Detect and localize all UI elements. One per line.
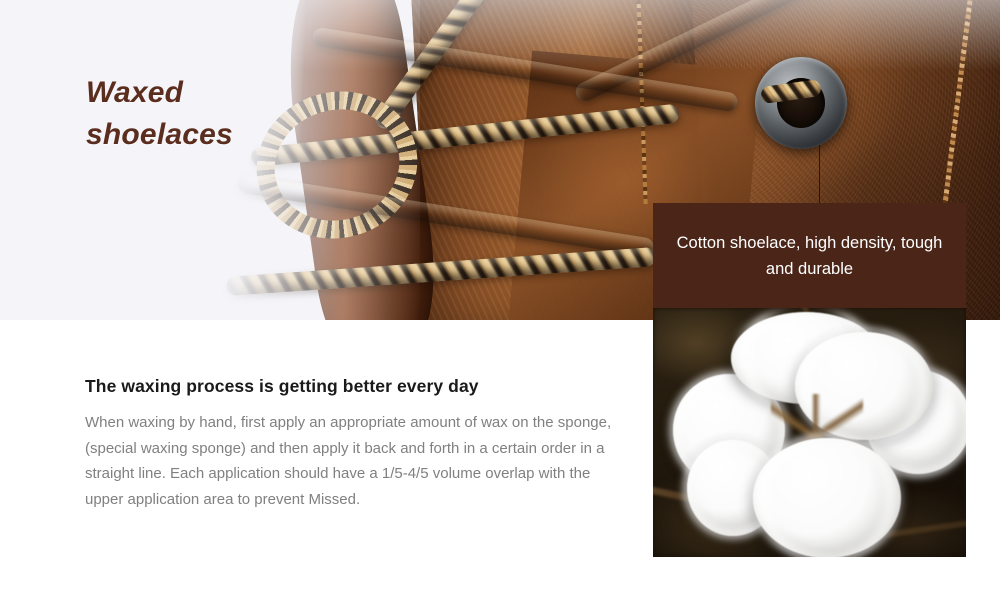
cotton-boll-image	[653, 308, 966, 557]
product-detail-page: Waxed shoelaces Cotton shoelace, high de…	[0, 0, 1000, 595]
content-heading: The waxing process is getting better eve…	[85, 376, 625, 397]
metal-eyelet	[755, 57, 847, 149]
callout-leader-line	[819, 145, 820, 205]
content-body-paragraph: When waxing by hand, first apply an appr…	[85, 410, 615, 512]
hero-left-fade	[0, 0, 420, 320]
hero-title-line-2: shoelaces	[86, 114, 386, 156]
hero-title-line-1: Waxed	[86, 72, 386, 114]
cotton-lobe-bottom	[753, 438, 901, 557]
hero-title: Waxed shoelaces	[86, 72, 386, 156]
feature-callout-text: Cotton shoelace, high density, tough and…	[667, 230, 952, 282]
feature-callout-box: Cotton shoelace, high density, tough and…	[653, 203, 966, 308]
